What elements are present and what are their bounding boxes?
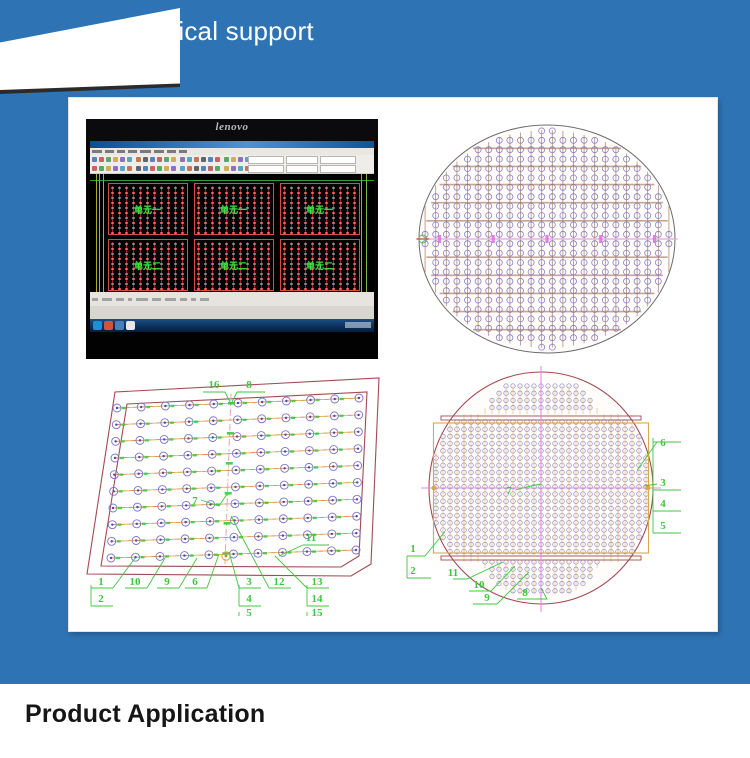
cad-pad-dot	[246, 197, 249, 199]
cad-pad-dot	[346, 278, 349, 280]
cad-pad-dot	[246, 222, 249, 224]
cad-pad-dot	[267, 258, 270, 260]
cad-pad-dot	[118, 227, 121, 229]
callout-label: 8	[246, 379, 252, 391]
cad-pad-dot	[118, 278, 121, 280]
cad-pad-dot	[125, 197, 128, 199]
cad-pad-dot	[353, 288, 356, 290]
cad-pad-dot	[304, 288, 307, 290]
cad-pad-dot	[332, 232, 335, 234]
cad-pad-dot	[283, 212, 286, 214]
cad-pad-dot	[225, 217, 228, 219]
cad-pad-dot	[353, 227, 356, 229]
cad-pad-dot	[211, 243, 214, 245]
cad-pad-dot	[181, 263, 184, 265]
cad-pad-dot	[218, 273, 221, 275]
cad-pad-dot	[139, 278, 142, 280]
cad-unit-label: 单元一	[134, 203, 161, 216]
cad-pad-dot	[283, 253, 286, 255]
cad-pad-dot	[139, 232, 142, 234]
cad-pad-dot	[253, 253, 256, 255]
callout-label: 13	[312, 576, 324, 588]
cad-pad-dot	[290, 227, 293, 229]
cad-pad-dot	[132, 197, 135, 199]
cad-pad-dot	[339, 288, 342, 290]
cad-pad-dot	[353, 217, 356, 219]
cad-pad-dot	[225, 197, 228, 199]
cad-pad-dot	[332, 197, 335, 199]
cad-pad-dot	[167, 268, 170, 270]
cad-pad-dot	[160, 192, 163, 194]
cad-pad-dot	[204, 197, 207, 199]
cad-pad-dot	[204, 253, 207, 255]
cad-pad-dot	[181, 278, 184, 280]
cad-pad-dot	[204, 222, 207, 224]
cad-pad-dot	[346, 283, 349, 285]
cad-pad-dot	[346, 192, 349, 194]
cad-pad-dot	[167, 217, 170, 219]
cad-tool-icon	[106, 166, 111, 171]
cad-pad-dot	[339, 227, 342, 229]
cad-pad-dot	[204, 268, 207, 270]
cad-pad-dot	[118, 273, 121, 275]
cad-pad-dot	[204, 263, 207, 265]
cad-pad-dot	[125, 212, 128, 214]
callout-label: 15	[312, 607, 324, 616]
cad-pad-dot	[311, 278, 314, 280]
cad-pad-dot	[253, 263, 256, 265]
cad-pad-dot	[225, 278, 228, 280]
cad-pad-dot	[311, 222, 314, 224]
cad-pad-dot	[225, 253, 228, 255]
cad-pad-dot	[218, 217, 221, 219]
cad-pad-dot	[218, 187, 221, 189]
cad-pad-dot	[332, 248, 335, 250]
cad-pad-dot	[125, 217, 128, 219]
callout-label: 1	[98, 576, 104, 588]
cad-pad-dot	[232, 278, 235, 280]
cad-pad-dot	[346, 232, 349, 234]
cad-pad-dot	[218, 288, 221, 290]
cad-pad-dot	[239, 222, 242, 224]
cad-pad-dot	[211, 192, 214, 194]
cad-pad-dot	[283, 273, 286, 275]
cad-pad-dot	[218, 283, 221, 285]
cad-pad-dot	[346, 217, 349, 219]
callout-label: 4	[246, 593, 252, 605]
cad-pad-dot	[332, 283, 335, 285]
cad-pad-dot	[283, 207, 286, 209]
cad-pad-dot	[111, 217, 114, 219]
cad-pad-dot	[211, 263, 214, 265]
cad-pad-dot	[297, 202, 300, 204]
cad-pad-dot	[118, 187, 121, 189]
cad-pad-dot	[297, 258, 300, 260]
cad-pad-dot	[111, 222, 114, 224]
cad-status-text	[102, 298, 112, 301]
cad-pad-dot	[153, 227, 156, 229]
cad-pad-dot	[290, 273, 293, 275]
cad-guide-line	[96, 174, 97, 292]
cad-pad-dot	[246, 217, 249, 219]
cad-pad-dot	[153, 222, 156, 224]
cad-pad-dot	[139, 283, 142, 285]
cad-pad-dot	[225, 192, 228, 194]
cad-pad-dot	[204, 192, 207, 194]
cad-pad-dot	[174, 288, 177, 290]
cad-pad-dot	[132, 227, 135, 229]
cad-pad-dot	[353, 212, 356, 214]
cad-pad-dot	[197, 248, 200, 250]
cad-pad-dot	[253, 187, 256, 189]
cad-pad-dot	[125, 222, 128, 224]
cad-tool-icon	[215, 157, 220, 162]
cad-menu-item	[167, 150, 176, 153]
cad-pad-dot	[283, 197, 286, 199]
cad-pad-dot	[160, 227, 163, 229]
cad-pad-dot	[211, 278, 214, 280]
cad-tool-icon	[187, 166, 192, 171]
callout-label: 16	[209, 379, 221, 391]
cad-pad-dot	[267, 288, 270, 290]
cad-pad-dot	[332, 227, 335, 229]
cad-pad-dot	[146, 273, 149, 275]
cad-pad-dot	[325, 227, 328, 229]
cad-pad-dot	[174, 227, 177, 229]
cad-pad-dot	[297, 197, 300, 199]
cad-pad-dot	[297, 253, 300, 255]
cad-pad-dot	[253, 283, 256, 285]
cad-pad-dot	[253, 197, 256, 199]
callout-label: 10	[474, 579, 486, 591]
cad-pad-dot	[311, 288, 314, 290]
cad-pad-dot	[211, 248, 214, 250]
cad-menu-item	[128, 150, 137, 153]
cad-pad-dot	[232, 222, 235, 224]
cad-pad-dot	[297, 248, 300, 250]
cad-pad-dot	[160, 197, 163, 199]
cad-pad-dot	[197, 217, 200, 219]
cad-pad-dot	[174, 273, 177, 275]
cad-unit-label: 单元一	[306, 203, 333, 216]
cad-pad-dot	[211, 227, 214, 229]
cad-pad-dot	[125, 207, 128, 209]
cad-tool-icon	[136, 157, 141, 162]
cad-pad-dot	[125, 278, 128, 280]
cad-pad-dot	[204, 202, 207, 204]
cad-pad-dot	[153, 217, 156, 219]
chrome-icon[interactable]	[104, 321, 113, 330]
cad-pad-dot	[339, 253, 342, 255]
cad-pad-dot	[160, 187, 163, 189]
cad-unit-block: 单元二	[108, 239, 188, 291]
cad-pad-dot	[211, 212, 214, 214]
cad-pad-dot	[339, 263, 342, 265]
cad-pad-dot	[318, 192, 321, 194]
cad-pad-dot	[311, 273, 314, 275]
cad-pad-dot	[346, 207, 349, 209]
cad-pad-dot	[125, 202, 128, 204]
cad-tool-icon	[143, 166, 148, 171]
callout-label: 2	[98, 593, 104, 605]
cad-pad-dot	[181, 187, 184, 189]
cad-pad-dot	[353, 273, 356, 275]
cad-pad-dot	[239, 288, 242, 290]
cad-pad-dot	[139, 248, 142, 250]
cad-pad-dot	[318, 248, 321, 250]
cad-pad-dot	[125, 283, 128, 285]
cad-pad-dot	[260, 258, 263, 260]
cad-pad-dot	[211, 253, 214, 255]
app-icon[interactable]	[115, 321, 124, 330]
cad-pad-dot	[283, 227, 286, 229]
cad-pad-dot	[290, 288, 293, 290]
cad-pad-dot	[146, 243, 149, 245]
cad-pad-dot	[197, 258, 200, 260]
cad-pad-dot	[267, 202, 270, 204]
cad-pad-dot	[339, 207, 342, 209]
cad-pad-dot	[211, 187, 214, 189]
cad-combobox	[320, 156, 356, 164]
cad-pad-dot	[197, 222, 200, 224]
cad-pad-dot	[167, 227, 170, 229]
cad-status-text	[136, 298, 148, 301]
cad-pad-dot	[260, 187, 263, 189]
cad-pad-dot	[283, 217, 286, 219]
cad-menu-item	[117, 150, 125, 153]
cad-pad-dot	[211, 222, 214, 224]
internet-explorer-icon[interactable]	[93, 321, 102, 330]
cad-pad-dot	[125, 187, 128, 189]
cad-tool-icon	[215, 166, 220, 171]
cad-combobox	[286, 156, 318, 164]
cad-pad-dot	[197, 268, 200, 270]
cad-pad-dot	[346, 268, 349, 270]
cad-pad-dot	[253, 278, 256, 280]
cad-unit-label: 单元二	[134, 259, 161, 272]
cad-pad-dot	[146, 227, 149, 229]
cad-pad-dot	[225, 232, 228, 234]
cad-icon[interactable]	[126, 321, 135, 330]
cad-pad-dot	[181, 217, 184, 219]
cad-pad-dot	[290, 248, 293, 250]
cad-pad-dot	[325, 243, 328, 245]
page-title: Technical support	[108, 16, 314, 47]
cad-pad-dot	[146, 192, 149, 194]
cad-pad-dot	[239, 253, 242, 255]
cad-tool-icon	[99, 157, 104, 162]
cad-pad-dot	[325, 248, 328, 250]
cad-pad-dot	[318, 197, 321, 199]
cad-pad-dot	[174, 232, 177, 234]
cad-pad-dot	[239, 197, 242, 199]
cad-pad-dot	[353, 253, 356, 255]
cad-pad-dot	[232, 273, 235, 275]
callout-label: 7	[192, 495, 198, 507]
cad-pad-dot	[346, 258, 349, 260]
cad-pad-dot	[211, 207, 214, 209]
cad-pad-dot	[346, 212, 349, 214]
callout-label: 9	[484, 592, 490, 604]
cad-pad-dot	[118, 288, 121, 290]
cad-pad-dot	[353, 207, 356, 209]
cad-pad-dot	[146, 197, 149, 199]
cad-pad-dot	[160, 248, 163, 250]
cad-pad-dot	[181, 192, 184, 194]
cad-pad-dot	[304, 253, 307, 255]
cad-pad-dot	[246, 187, 249, 189]
cad-canvas: 单元一单元一单元一单元二单元二单元二	[90, 174, 374, 292]
cad-pad-dot	[311, 232, 314, 234]
cad-pad-dot	[146, 253, 149, 255]
cad-menu-item	[105, 150, 114, 153]
cad-pad-dot	[204, 212, 207, 214]
cad-pad-dot	[111, 243, 114, 245]
cad-tool-icon	[150, 166, 155, 171]
cad-pad-dot	[304, 248, 307, 250]
cad-pad-dot	[311, 197, 314, 199]
cad-pad-dot	[283, 263, 286, 265]
cad-pad-dot	[167, 222, 170, 224]
cad-pad-dot	[146, 232, 149, 234]
cad-pad-dot	[325, 192, 328, 194]
cad-pad-dot	[174, 278, 177, 280]
cad-pad-dot	[325, 283, 328, 285]
cad-pad-dot	[297, 232, 300, 234]
cad-menu-item	[154, 150, 164, 153]
cad-titlebar	[90, 141, 374, 148]
cad-pad-dot	[181, 232, 184, 234]
cad-pad-dot	[325, 278, 328, 280]
callout-label: 6	[192, 576, 198, 588]
cad-pad-dot	[290, 212, 293, 214]
cad-tool-icon	[120, 157, 125, 162]
cad-pad-dot	[353, 187, 356, 189]
cad-pad-dot	[211, 202, 214, 204]
cad-pad-dot	[332, 273, 335, 275]
cad-status-text	[165, 298, 176, 301]
cad-pad-dot	[181, 222, 184, 224]
cad-pad-dot	[283, 268, 286, 270]
cad-pad-dot	[225, 283, 228, 285]
cad-pad-dot	[232, 197, 235, 199]
cad-guide-line	[103, 174, 104, 292]
cad-tool-icon	[187, 157, 192, 162]
cad-pad-dot	[111, 263, 114, 265]
cad-pad-dot	[132, 288, 135, 290]
cad-pad-dot	[118, 217, 121, 219]
cad-pad-dot	[353, 192, 356, 194]
cad-pad-dot	[211, 283, 214, 285]
cad-pad-dot	[253, 258, 256, 260]
callout-label: 3	[246, 576, 252, 588]
cad-tool-icon	[136, 166, 141, 171]
cad-pad-dot	[118, 232, 121, 234]
cad-pad-dot	[239, 227, 242, 229]
callout-label: 12	[274, 576, 286, 588]
callout-label: 2	[410, 565, 416, 577]
callout-label: 4	[660, 498, 666, 510]
cad-pad-dot	[218, 227, 221, 229]
cad-pad-dot	[232, 187, 235, 189]
cad-pad-dot	[167, 288, 170, 290]
cad-pad-dot	[132, 273, 135, 275]
cad-pad-dot	[225, 288, 228, 290]
cad-pad-dot	[267, 187, 270, 189]
cad-pad-dot	[311, 192, 314, 194]
cad-pad-dot	[260, 227, 263, 229]
cad-pad-dot	[267, 283, 270, 285]
cad-pad-dot	[283, 243, 286, 245]
cad-pad-dot	[318, 283, 321, 285]
system-tray[interactable]	[345, 322, 371, 328]
cad-pad-dot	[197, 283, 200, 285]
cad-tool-icon	[194, 157, 199, 162]
cad-pad-dot	[204, 273, 207, 275]
cad-guide-line-h	[90, 180, 374, 181]
cad-pad-dot	[283, 283, 286, 285]
cad-pad-dot	[181, 207, 184, 209]
cad-pad-dot	[174, 212, 177, 214]
cad-pad-dot	[339, 197, 342, 199]
cad-tool-icon	[208, 166, 213, 171]
cad-pad-dot	[353, 263, 356, 265]
cad-pad-dot	[353, 248, 356, 250]
cad-pad-dot	[353, 283, 356, 285]
cad-pad-dot	[139, 192, 142, 194]
cad-pad-dot	[125, 268, 128, 270]
cad-pad-dot	[297, 288, 300, 290]
cad-pad-dot	[283, 288, 286, 290]
cad-pad-dot	[181, 243, 184, 245]
cad-pad-dot	[325, 217, 328, 219]
cad-pad-dot	[332, 253, 335, 255]
cad-pad-dot	[125, 273, 128, 275]
cad-pad-dot	[160, 243, 163, 245]
cad-pad-dot	[353, 278, 356, 280]
cad-pad-dot	[232, 227, 235, 229]
cad-pad-dot	[125, 253, 128, 255]
cad-pad-dot	[346, 263, 349, 265]
cad-pad-dot	[311, 227, 314, 229]
content-card: lenovo 单元一单元一单元一单元二单元二单元二 16811711096312…	[68, 97, 718, 632]
cad-pad-dot	[339, 243, 342, 245]
cad-pad-dot	[318, 273, 321, 275]
cad-pad-dot	[353, 197, 356, 199]
cad-pad-dot	[204, 258, 207, 260]
cad-pad-dot	[311, 283, 314, 285]
cad-pad-dot	[311, 187, 314, 189]
cad-pad-dot	[125, 232, 128, 234]
cad-pad-dot	[153, 192, 156, 194]
cad-pad-dot	[260, 248, 263, 250]
cad-pad-dot	[339, 212, 342, 214]
cad-status-text	[128, 298, 132, 301]
cad-unit-block: 单元一	[108, 183, 188, 235]
cad-pad-dot	[339, 187, 342, 189]
cad-status-text	[92, 298, 98, 301]
cad-pad-dot	[339, 273, 342, 275]
cad-pad-dot	[167, 207, 170, 209]
cad-pad-dot	[197, 192, 200, 194]
cad-pad-dot	[304, 222, 307, 224]
cad-pad-dot	[218, 197, 221, 199]
cad-pad-dot	[118, 258, 121, 260]
cad-pad-dot	[332, 288, 335, 290]
cad-pad-dot	[239, 283, 242, 285]
cad-pad-dot	[118, 207, 121, 209]
cad-pad-dot	[283, 278, 286, 280]
